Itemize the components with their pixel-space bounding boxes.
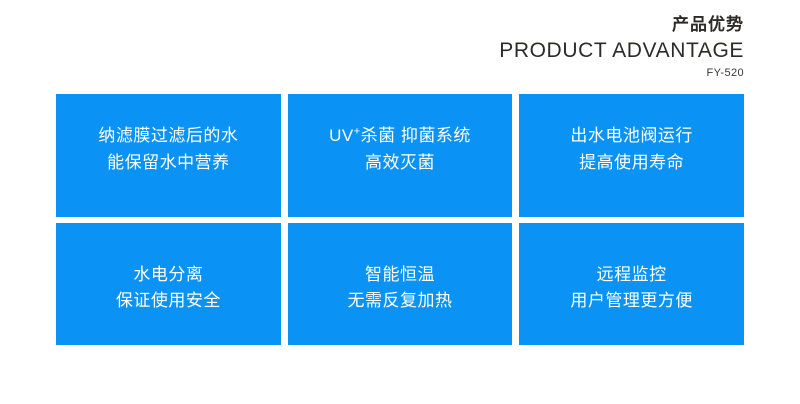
page-header: 产品优势 PRODUCT ADVANTAGE FY-520 — [499, 16, 744, 79]
advantage-card-water-power-separation[interactable]: 水电分离 保证使用安全 — [56, 223, 281, 345]
card-text: 智能恒温 无需反复加热 — [347, 262, 452, 315]
uv-label: UV — [329, 126, 354, 145]
card-text: 出水电池阀运行 提高使用寿命 — [570, 123, 693, 176]
advantage-card-grid: 纳滤膜过滤后的水 能保留水中营养 UV+杀菌 抑菌系统 高效灭菌 出水电池阀运行… — [56, 94, 744, 345]
page-title-cn: 产品优势 — [499, 16, 744, 33]
advantage-card-outlet-battery-valve[interactable]: 出水电池阀运行 提高使用寿命 — [519, 94, 744, 217]
plus-superscript: + — [354, 126, 361, 138]
card-line-1: 水电分离 — [116, 262, 221, 288]
card-line-1: 出水电池阀运行 — [570, 123, 693, 149]
card-line-1: 智能恒温 — [347, 262, 452, 288]
advantage-card-uv-sterilization[interactable]: UV+杀菌 抑菌系统 高效灭菌 — [288, 94, 513, 217]
card-line-1: UV+杀菌 抑菌系统 — [329, 123, 471, 149]
card-line-2: 能保留水中营养 — [98, 150, 238, 176]
card-line-1: 纳滤膜过滤后的水 — [98, 123, 238, 149]
advantage-card-nano-filtration[interactable]: 纳滤膜过滤后的水 能保留水中营养 — [56, 94, 281, 217]
product-model-number: FY-520 — [499, 68, 744, 79]
card-text: UV+杀菌 抑菌系统 高效灭菌 — [329, 123, 471, 176]
advantage-card-remote-monitoring[interactable]: 远程监控 用户管理更方便 — [519, 223, 744, 345]
card-text: 远程监控 用户管理更方便 — [570, 262, 693, 315]
card-line-2: 高效灭菌 — [329, 150, 471, 176]
page-title-en: PRODUCT ADVANTAGE — [499, 40, 744, 61]
card-line-2: 无需反复加热 — [347, 288, 452, 314]
card-text: 水电分离 保证使用安全 — [116, 262, 221, 315]
card-text: 纳滤膜过滤后的水 能保留水中营养 — [98, 123, 238, 176]
card-line-2: 用户管理更方便 — [570, 288, 693, 314]
card-line-2: 提高使用寿命 — [570, 150, 693, 176]
advantage-card-smart-constant-temperature[interactable]: 智能恒温 无需反复加热 — [288, 223, 513, 345]
card-line-2: 保证使用安全 — [116, 288, 221, 314]
card-line-1: 远程监控 — [570, 262, 693, 288]
uv-label-suffix: 杀菌 抑菌系统 — [361, 126, 471, 145]
